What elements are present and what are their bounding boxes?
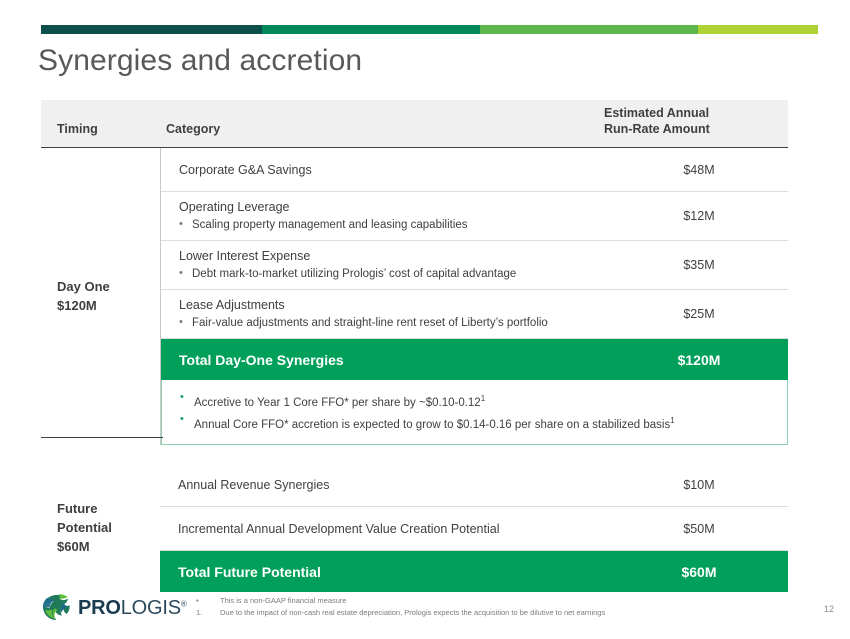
table-header: Timing Category Estimated Annual Run-Rat…: [41, 100, 788, 148]
row-label: Corporate G&A Savings: [179, 155, 624, 185]
note-text: Annual Core FFO* accretion is expected t…: [194, 419, 670, 431]
prologis-logo: PROLOGIS®: [41, 593, 187, 622]
row-amount: $25M: [624, 307, 788, 321]
section-day-one: Day One $120M Corporate G&A Savings $48M…: [41, 148, 788, 445]
accent-segment-3: [480, 25, 698, 34]
total-row-future-potential: Total Future Potential $60M: [160, 551, 788, 592]
section-label-future-potential: Future Potential $60M: [41, 463, 160, 592]
section-label-line-1: Potential: [57, 518, 112, 537]
accent-segment-1: [41, 25, 262, 34]
row-amount: $48M: [624, 163, 788, 177]
row-sub-bullet: Debt mark-to-market utilizing Prologis’ …: [179, 267, 624, 282]
footnote-marker: •: [196, 595, 220, 607]
row-amount: $10M: [624, 478, 788, 492]
prologis-wordmark: PROLOGIS®: [78, 598, 187, 618]
table-row: Corporate G&A Savings $48M: [161, 148, 788, 192]
row-label: Lower Interest Expense Debt mark-to-mark…: [179, 241, 624, 289]
section-label-line-0: Day One: [57, 277, 110, 296]
row-label: Lease Adjustments Fair-value adjustments…: [179, 290, 624, 338]
logo-registered-mark: ®: [181, 599, 187, 608]
row-label-text: Lower Interest Expense: [179, 249, 310, 263]
section-label-text: Day One $120M: [41, 277, 110, 315]
row-amount: $50M: [624, 522, 788, 536]
footnote-row: 1. Due to the impact of non-cash real es…: [196, 607, 605, 619]
note-superscript: 1: [481, 394, 485, 403]
section-rows-day-one: Corporate G&A Savings $48M Operating Lev…: [161, 148, 788, 445]
row-label: Incremental Annual Development Value Cre…: [178, 514, 624, 544]
total-row-day-one: Total Day-One Synergies $120M: [161, 339, 788, 380]
table-row: Lower Interest Expense Debt mark-to-mark…: [161, 241, 788, 290]
section-divider-rule: [41, 437, 163, 438]
top-accent-bar: [41, 25, 818, 34]
header-amount: Estimated Annual Run-Rate Amount: [604, 105, 764, 137]
header-amount-line1: Estimated Annual: [604, 105, 764, 121]
accretion-note-box: Accretive to Year 1 Core FFO* per share …: [161, 380, 788, 445]
future-potential-table: Future Potential $60M Annual Revenue Syn…: [41, 463, 788, 592]
footnote-text: This is a non-GAAP financial measure: [220, 595, 347, 607]
header-amount-line2: Run-Rate Amount: [604, 121, 764, 137]
row-sub-bullet: Scaling property management and leasing …: [179, 218, 624, 233]
section-future-potential: Future Potential $60M Annual Revenue Syn…: [41, 463, 788, 592]
accent-segment-2: [262, 25, 480, 34]
note-item: Annual Core FFO* accretion is expected t…: [180, 412, 775, 434]
synergies-table: Timing Category Estimated Annual Run-Rat…: [41, 100, 788, 445]
footnote-marker: 1.: [196, 607, 220, 619]
note-text: Accretive to Year 1 Core FFO* per share …: [194, 397, 481, 409]
page-title: Synergies and accretion: [38, 44, 362, 78]
section-label-line-1: $120M: [57, 296, 110, 315]
total-label: Total Day-One Synergies: [179, 352, 624, 368]
section-label-line-0: Future: [57, 499, 112, 518]
note-item: Accretive to Year 1 Core FFO* per share …: [180, 390, 775, 412]
table-row: Annual Revenue Synergies $10M: [160, 463, 788, 507]
page-number: 12: [824, 604, 834, 614]
section-rows-future-potential: Annual Revenue Synergies $10M Incrementa…: [160, 463, 788, 592]
total-amount: $120M: [624, 352, 788, 368]
header-category: Category: [166, 122, 220, 136]
table-row: Lease Adjustments Fair-value adjustments…: [161, 290, 788, 339]
row-label-text: Operating Leverage: [179, 200, 290, 214]
table-row: Operating Leverage Scaling property mana…: [161, 192, 788, 241]
prologis-globe-icon: [41, 593, 71, 622]
row-label: Annual Revenue Synergies: [178, 470, 624, 500]
footnote-row: • This is a non-GAAP financial measure: [196, 595, 605, 607]
logo-bold: PRO: [78, 597, 121, 619]
total-label: Total Future Potential: [178, 564, 624, 580]
footnote-text: Due to the impact of non-cash real estat…: [220, 607, 605, 619]
logo-light: LOGIS: [121, 597, 181, 619]
row-sub-bullet: Fair-value adjustments and straight-line…: [179, 316, 624, 331]
row-label: Operating Leverage Scaling property mana…: [179, 192, 624, 240]
note-superscript: 1: [670, 416, 674, 425]
footnotes: • This is a non-GAAP financial measure 1…: [196, 595, 605, 618]
section-label-text: Future Potential $60M: [41, 499, 112, 556]
table-row: Incremental Annual Development Value Cre…: [160, 507, 788, 551]
header-timing: Timing: [57, 122, 98, 136]
section-label-line-2: $60M: [57, 537, 112, 556]
total-amount: $60M: [624, 564, 788, 580]
section-label-day-one: Day One $120M: [41, 148, 161, 445]
row-label-text: Lease Adjustments: [179, 298, 285, 312]
row-amount: $35M: [624, 258, 788, 272]
accent-segment-4: [698, 25, 818, 34]
row-amount: $12M: [624, 209, 788, 223]
